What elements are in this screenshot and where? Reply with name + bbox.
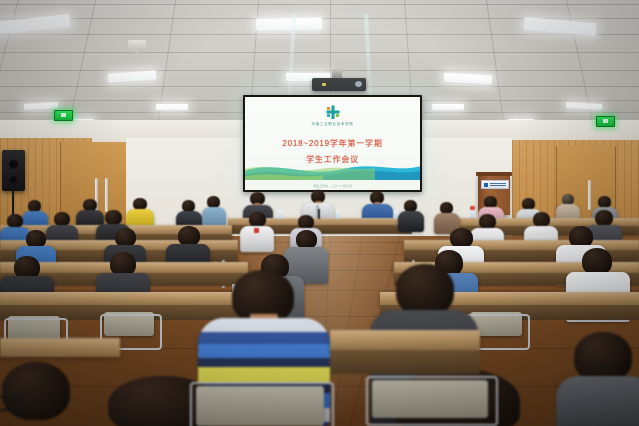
eyeglasses	[0, 396, 22, 411]
foreground-person-left	[0, 362, 86, 426]
person-torso	[556, 376, 639, 426]
foreground-person-far-right	[556, 336, 639, 426]
person-head	[2, 362, 70, 420]
person-head	[574, 332, 632, 382]
meeting-room-photo: 河南工业职业技术学院 2018~2019学年第一学期 学生工作会议 学生工作处 …	[0, 0, 639, 426]
desk	[330, 330, 480, 351]
person-head	[396, 264, 454, 316]
desk	[0, 338, 120, 357]
audience-row-foreground	[0, 0, 639, 426]
